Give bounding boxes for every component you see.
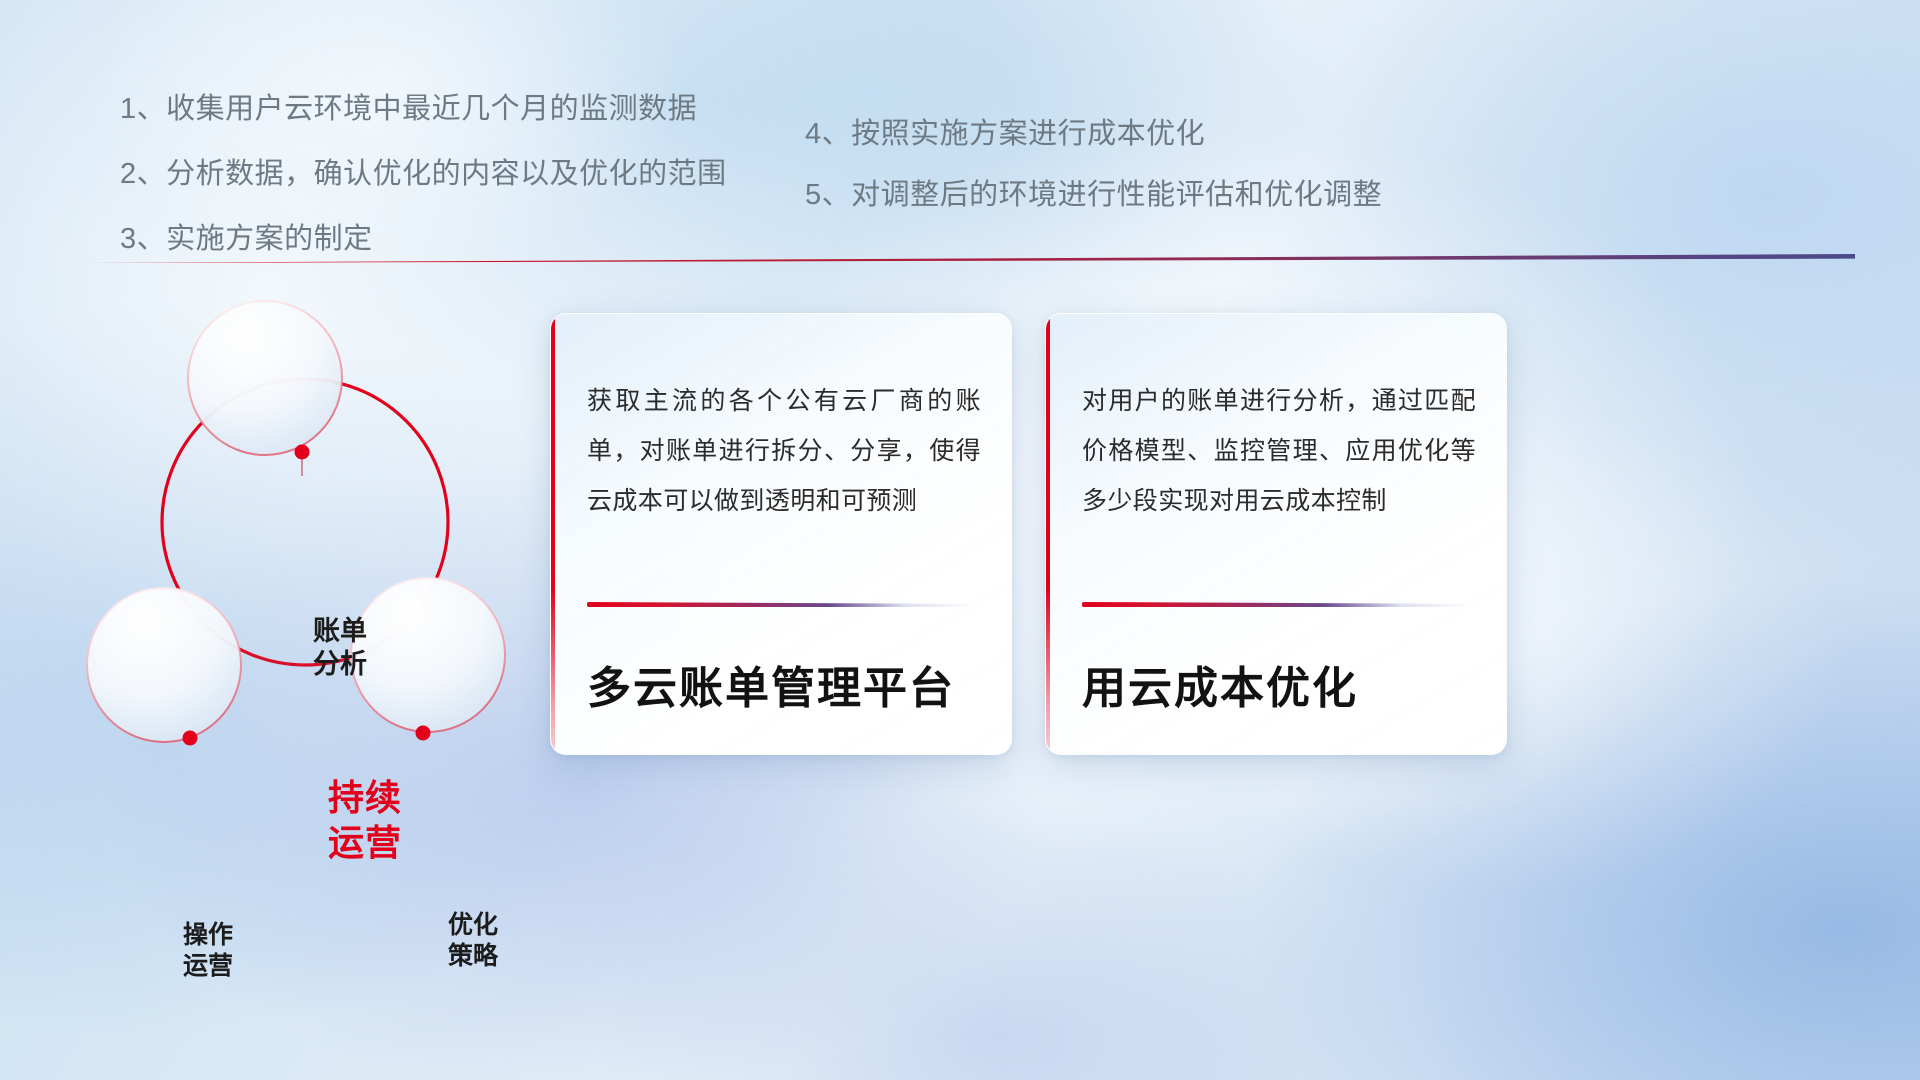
card-body-text: 对用户的账单进行分析，通过匹配价格模型、监控管理、应用优化等多少段实现对用云成本… xyxy=(1082,376,1476,526)
card-left-accent-bar xyxy=(1046,314,1050,754)
venn-center-label: 持续 运营 xyxy=(275,775,455,865)
process-step-4: 4、按照实施方案进行成本优化 xyxy=(805,120,1382,149)
process-step-3: 3、实施方案的制定 xyxy=(120,225,727,254)
feature-card-billing-platform[interactable]: 获取主流的各个公有云厂商的账单，对账单进行拆分、分享，使得云成本可以做到透明和可… xyxy=(550,313,1012,755)
venn-label-right: 优化 策略 xyxy=(388,910,558,971)
process-steps-column-right: 4、按照实施方案进行成本优化 5、对调整后的环境进行性能评估和优化调整 xyxy=(805,120,1382,242)
section-divider xyxy=(85,254,1855,263)
card-accent-rule xyxy=(587,602,977,607)
venn-bubble-left xyxy=(87,588,241,742)
venn-diagram: 账单 分析 操作 运营 优化 策略 持续 运营 xyxy=(75,290,545,770)
venn-diagram-svg xyxy=(75,290,545,770)
venn-label-top: 账单 分析 xyxy=(255,615,425,681)
venn-node-dot-top xyxy=(295,445,310,460)
process-steps-list: 1、收集用户云环境中最近几个月的监测数据 2、分析数据，确认优化的内容以及优化的… xyxy=(0,0,1920,250)
process-step-2: 2、分析数据，确认优化的内容以及优化的范围 xyxy=(120,160,727,189)
venn-label-left: 操作 运营 xyxy=(123,920,293,981)
card-body-text: 获取主流的各个公有云厂商的账单，对账单进行拆分、分享，使得云成本可以做到透明和可… xyxy=(587,376,981,526)
process-step-5: 5、对调整后的环境进行性能评估和优化调整 xyxy=(805,181,1382,210)
venn-node-dot-left xyxy=(183,731,198,746)
card-title: 多云账单管理平台 xyxy=(587,652,987,716)
card-accent-rule xyxy=(1082,602,1472,607)
card-title: 用云成本优化 xyxy=(1082,652,1482,716)
divider-gradient-bar xyxy=(85,254,1855,263)
process-step-1: 1、收集用户云环境中最近几个月的监测数据 xyxy=(120,95,727,124)
venn-node-dot-right xyxy=(416,726,431,741)
venn-bubble-top xyxy=(188,301,342,455)
card-left-accent-bar xyxy=(551,314,555,754)
feature-card-cost-optimization[interactable]: 对用户的账单进行分析，通过匹配价格模型、监控管理、应用优化等多少段实现对用云成本… xyxy=(1045,313,1507,755)
